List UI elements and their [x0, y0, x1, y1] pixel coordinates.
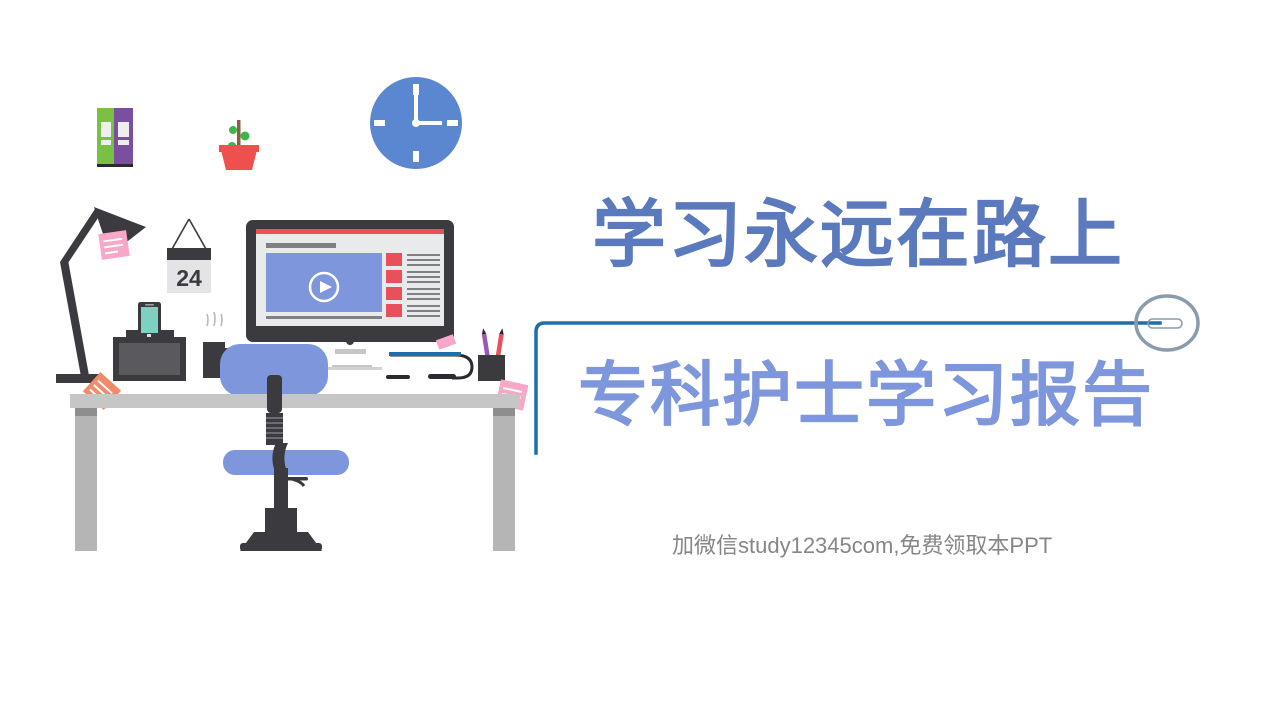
- books-icon: [97, 108, 133, 167]
- wall-calendar-icon: 24: [167, 219, 211, 293]
- presentation-slide: 24: [0, 0, 1280, 720]
- page-title: 学习永远在路上: [592, 198, 1124, 272]
- computer-mouse-icon: [386, 352, 472, 379]
- sticky-note-pink-icon: [98, 230, 129, 260]
- wall-clock-icon: [370, 77, 462, 169]
- potted-plant-icon: [219, 120, 259, 170]
- page-subtitle: 专科护士学习报告: [578, 360, 1154, 430]
- svg-text:24: 24: [176, 265, 202, 291]
- smartphone-icon: [138, 302, 161, 339]
- footer-note: 加微信study12345com,免费领取本PPT: [672, 528, 1052, 560]
